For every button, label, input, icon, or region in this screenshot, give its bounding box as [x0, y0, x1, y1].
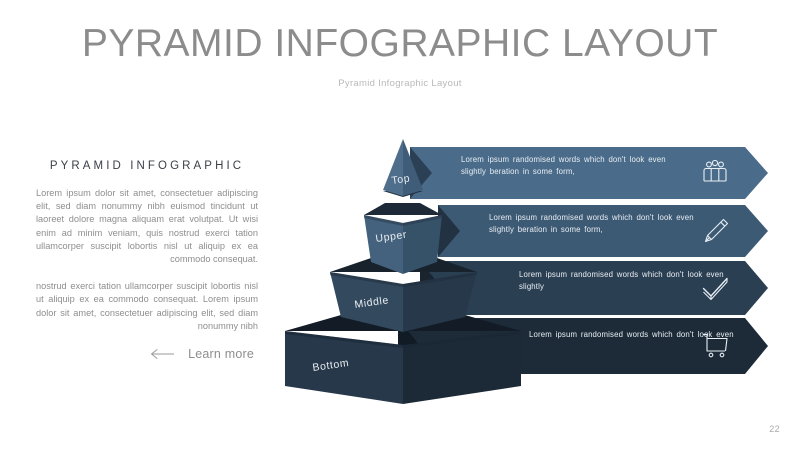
- pyramid-infographic: Bottom Middle Upper: [0, 0, 800, 450]
- slide-canvas: PYRAMID INFOGRAPHIC LAYOUT Pyramid Infog…: [0, 0, 800, 450]
- banner-text-2: Lorem ipsum randomised words which don't…: [489, 212, 704, 235]
- page-number: 22: [769, 424, 780, 434]
- pyramid-tier-top[interactable]: Top: [383, 139, 423, 197]
- pyramid-tier-upper[interactable]: Upper: [364, 203, 442, 274]
- banner-text-1: Lorem ipsum randomised words which don't…: [461, 154, 676, 177]
